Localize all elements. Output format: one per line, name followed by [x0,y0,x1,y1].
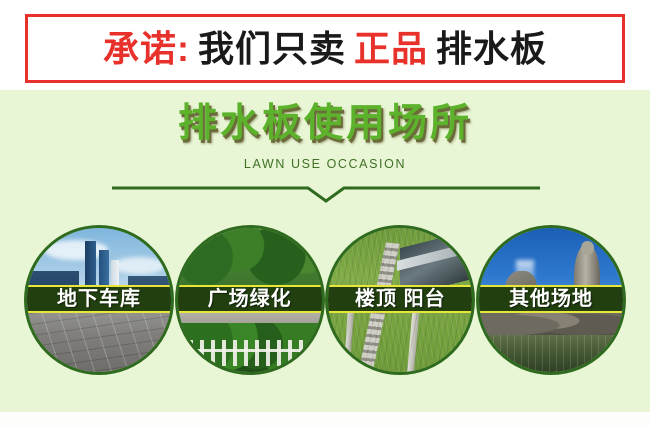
promise-prefix: 承诺: [103,28,190,69]
promise-middle: 我们只卖 [198,28,346,69]
scenario-label: 其他场地 [509,289,593,309]
scenario-card-row: 地下车库 广场绿化 [0,225,650,385]
promise-box: 承诺:我们只卖正品排水板 [25,14,625,83]
scenario-card-underground-garage[interactable]: 地下车库 [24,225,174,375]
product-detail-page: 承诺:我们只卖正品排水板 排水板使用场所 LAWN USE OCCASION [0,0,650,427]
promise-text: 承诺:我们只卖正品排水板 [103,31,547,67]
section-title: 排水板使用场所 [0,104,650,143]
bottom-white-strip [0,412,650,427]
v-notch-divider [112,182,540,204]
v-notch-divider-icon [112,182,540,204]
scenario-card-plaza-greening[interactable]: 广场绿化 [175,225,325,375]
promise-banner: 承诺:我们只卖正品排水板 [0,0,650,90]
scenario-label: 广场绿化 [208,289,292,309]
scenario-label: 地下车库 [57,289,141,309]
scenario-label-band: 广场绿化 [178,285,322,313]
scenario-label: 楼顶 阳台 [355,289,446,309]
scenario-label-band: 楼顶 阳台 [328,285,472,313]
scenario-card-other-sites[interactable]: 其他场地 [476,225,626,375]
usage-scenarios-section: 排水板使用场所 LAWN USE OCCASION [0,90,650,412]
scenario-label-band: 地下车库 [27,285,171,313]
promise-suffix: 排水板 [436,28,547,69]
scenario-label-band: 其他场地 [479,285,623,313]
scenario-card-rooftop-balcony[interactable]: 楼顶 阳台 [325,225,475,375]
section-subtitle: LAWN USE OCCASION [0,158,650,171]
promise-highlight: 正品 [354,28,428,69]
